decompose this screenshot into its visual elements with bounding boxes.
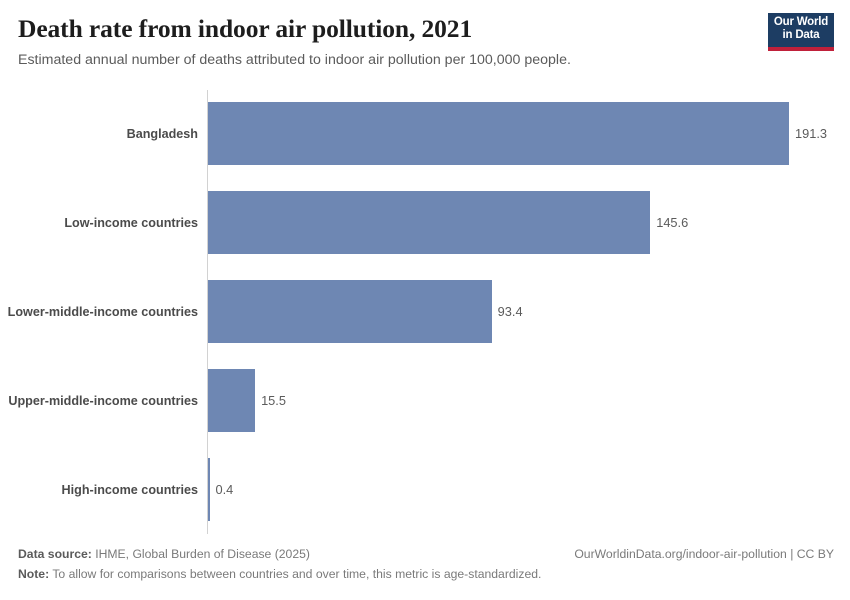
bar-category-label: Upper-middle-income countries	[0, 356, 198, 445]
bar-rect[interactable]	[208, 458, 210, 521]
bar-value-label: 191.3	[795, 102, 827, 165]
bar-row[interactable]: Low-income countries145.6	[0, 178, 850, 267]
bar-category-label: Bangladesh	[0, 89, 198, 178]
our-world-in-data-logo[interactable]: Our World in Data	[768, 13, 834, 51]
bar-category-label: High-income countries	[0, 445, 198, 534]
bar-rect[interactable]	[208, 280, 492, 343]
page-title: Death rate from indoor air pollution, 20…	[18, 14, 834, 44]
note-label: Note:	[18, 567, 49, 581]
bar-rect[interactable]	[208, 102, 789, 165]
bar-row[interactable]: Lower-middle-income countries93.4	[0, 267, 850, 356]
data-source-label: Data source:	[18, 547, 92, 561]
bar-category-label: Low-income countries	[0, 178, 198, 267]
note-text: To allow for comparisons between countri…	[49, 567, 541, 581]
bar-value-label: 145.6	[656, 191, 688, 254]
bar-row[interactable]: Bangladesh191.3	[0, 89, 850, 178]
bar-value-label: 15.5	[261, 369, 286, 432]
bar-rect[interactable]	[208, 369, 255, 432]
bar-rect[interactable]	[208, 191, 650, 254]
footer-url-license[interactable]: OurWorldinData.org/indoor-air-pollution …	[574, 544, 834, 564]
bar-value-label: 93.4	[498, 280, 523, 343]
bar-chart-plot-area: Bangladesh191.3Low-income countries145.6…	[0, 84, 850, 534]
data-source-text: IHME, Global Burden of Disease (2025)	[92, 547, 310, 561]
chart-footer: Data source: IHME, Global Burden of Dise…	[0, 534, 850, 600]
bar-row[interactable]: Upper-middle-income countries15.5	[0, 356, 850, 445]
logo-line-1: Our World	[768, 16, 834, 29]
bar-category-label: Lower-middle-income countries	[0, 267, 198, 356]
chart-subtitle: Estimated annual number of deaths attrib…	[18, 50, 834, 70]
footer-source-row: Data source: IHME, Global Burden of Dise…	[18, 544, 834, 564]
logo-line-2: in Data	[768, 29, 834, 42]
bar-row[interactable]: High-income countries0.4	[0, 445, 850, 534]
footer-note-row: Note: To allow for comparisons between c…	[18, 564, 834, 584]
bar-value-label: 0.4	[216, 458, 234, 521]
chart-header: Death rate from indoor air pollution, 20…	[0, 0, 850, 84]
